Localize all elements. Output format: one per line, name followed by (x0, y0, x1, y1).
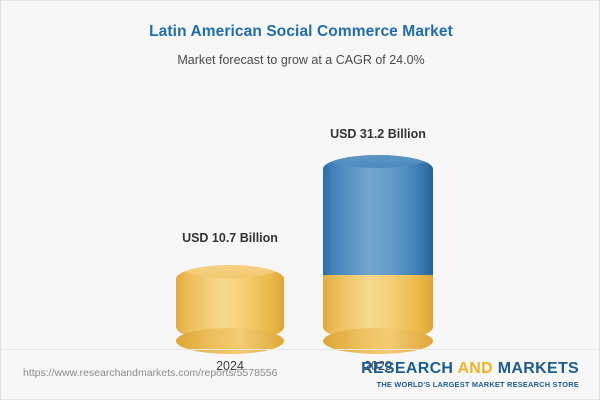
logo-word-research: RESEARCH (361, 360, 453, 377)
footer-divider (1, 349, 600, 350)
bar-group-2029[interactable]: USD 31.2 Billion 2029 (323, 111, 433, 341)
plot-area: USD 10.7 Billion 2024 USD 31.2 Billion 2… (1, 81, 600, 341)
brand-logo[interactable]: RESEARCH AND MARKETS THE WORLD'S LARGEST… (361, 361, 579, 389)
chart-subtitle: Market forecast to grow at a CAGR of 24.… (1, 53, 600, 67)
report-url[interactable]: https://www.researchandmarkets.com/repor… (23, 367, 277, 379)
logo-word-markets: MARKETS (498, 360, 579, 377)
logo-word-and: AND (453, 360, 497, 377)
cylinder-bottom-edge (176, 328, 284, 354)
bar-group-2024[interactable]: USD 10.7 Billion 2024 (176, 111, 284, 341)
logo-tagline: THE WORLD'S LARGEST MARKET RESEARCH STOR… (361, 380, 579, 389)
segment-growth (323, 155, 433, 275)
bar-value-label-2029: USD 31.2 Billion (323, 127, 433, 141)
bar-value-label-2024: USD 10.7 Billion (176, 231, 284, 245)
cylinder-2029 (323, 155, 433, 341)
logo-wordmark: RESEARCH AND MARKETS (361, 361, 579, 378)
page-title: Latin American Social Commerce Market (1, 23, 600, 41)
cylinder-bottom-edge (323, 328, 433, 354)
chart-card: Latin American Social Commerce Market Ma… (0, 0, 600, 400)
